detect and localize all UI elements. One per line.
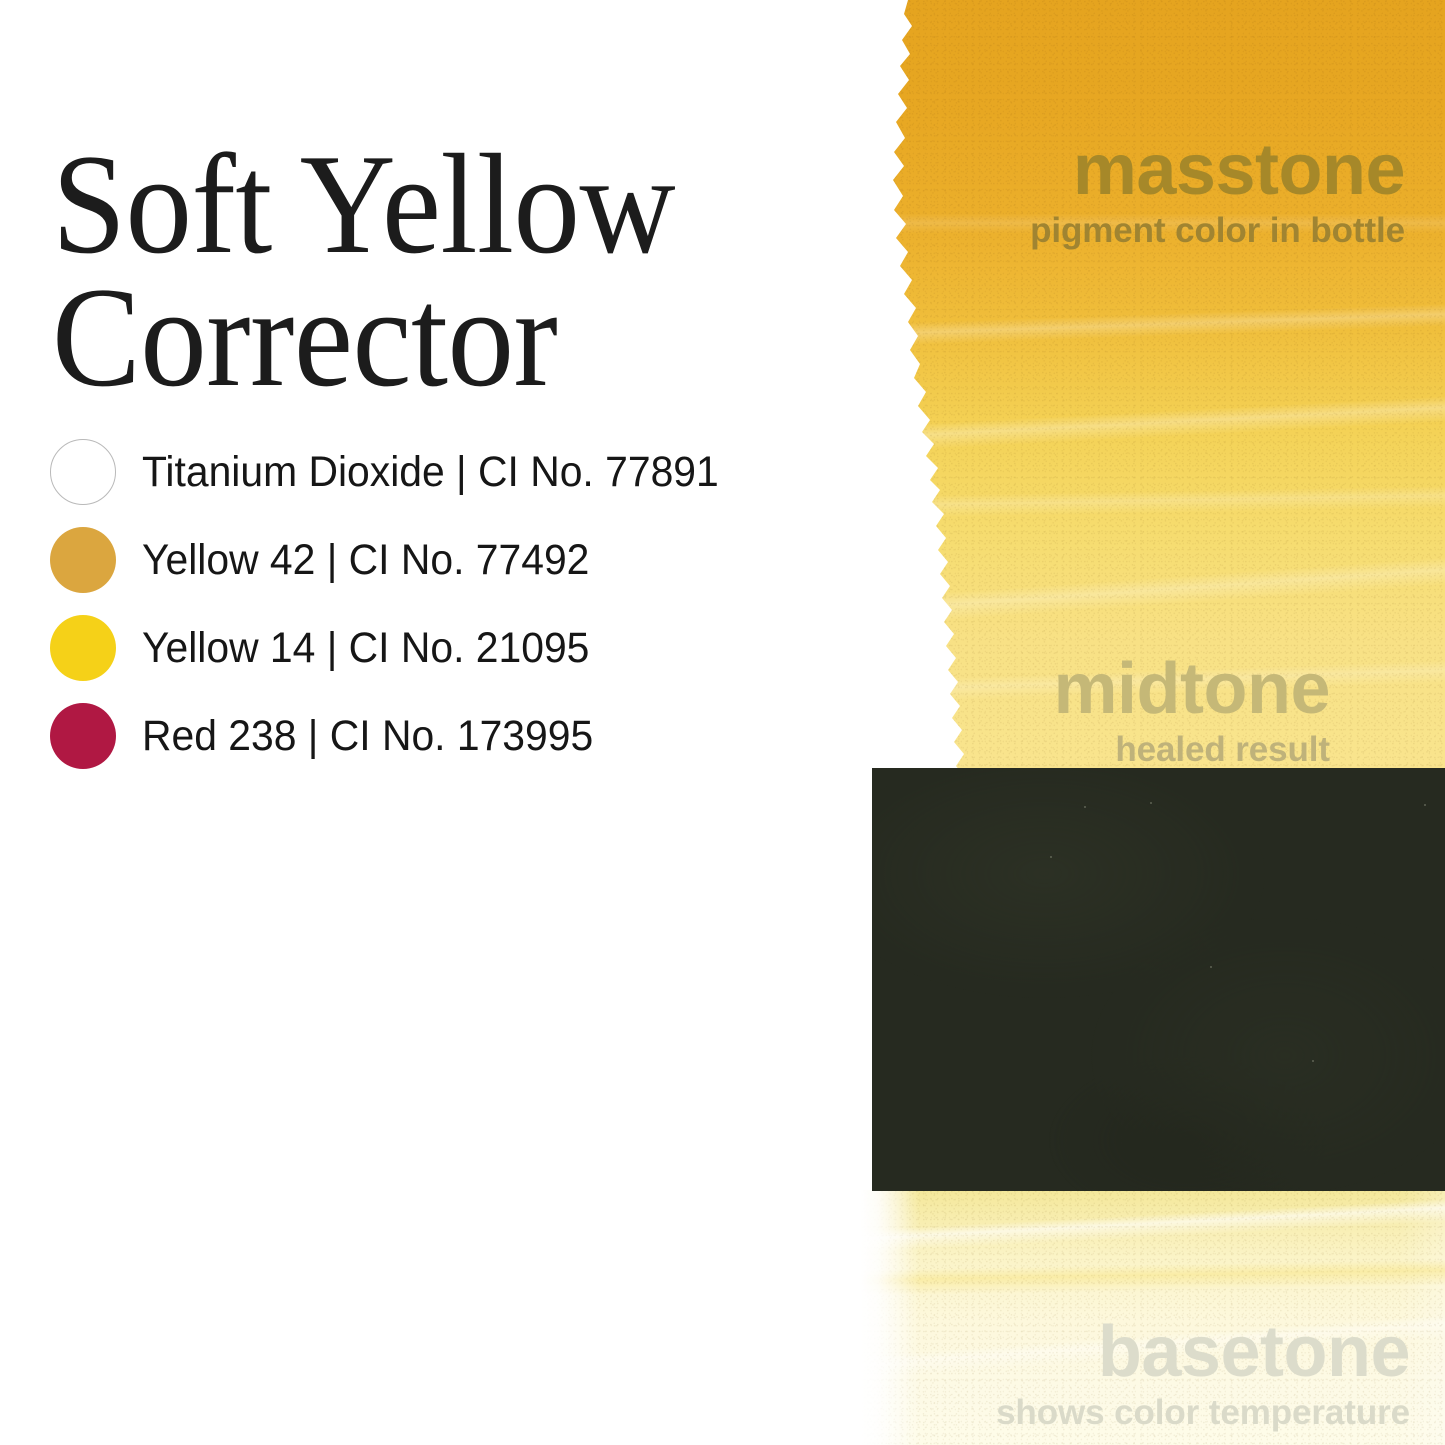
pigment-row: Red 238 | CI No. 173995 [50, 692, 870, 780]
product-title: Soft Yellow Corrector [52, 138, 796, 404]
yellow-42-swatch [50, 527, 116, 593]
dark-block-speck [1210, 966, 1212, 968]
dark-block-speck [1312, 1060, 1314, 1062]
basetone-wash [860, 1190, 1445, 1445]
swatch-stack [860, 0, 1445, 1445]
torn-paper-edge [860, 0, 1020, 790]
dark-block-speck [1084, 806, 1086, 808]
pigment-row: Titanium Dioxide | CI No. 77891 [50, 428, 870, 516]
pigment-label: Red 238 | CI No. 173995 [142, 715, 593, 758]
info-panel: Soft Yellow Corrector Titanium Dioxide |… [0, 0, 880, 1445]
pigment-swatch-card: masstone pigment color in bottle midtone… [0, 0, 1445, 1445]
dark-block-mottle [872, 768, 1445, 1191]
basetone-brush-streaks [860, 1190, 1445, 1445]
pigment-row: Yellow 14 | CI No. 21095 [50, 604, 870, 692]
yellow-14-swatch [50, 615, 116, 681]
dark-block-speck [1050, 856, 1052, 858]
red-238-swatch [50, 703, 116, 769]
dark-block-speck [1150, 802, 1152, 804]
masstone-midtone-wash [860, 0, 1445, 790]
titanium-dioxide-swatch [50, 439, 116, 505]
dark-block-speck [1424, 804, 1426, 806]
dark-swatch-block [872, 768, 1445, 1191]
pigment-row: Yellow 42 | CI No. 77492 [50, 516, 870, 604]
pigment-label: Yellow 14 | CI No. 21095 [142, 627, 589, 670]
pigment-ingredient-list: Titanium Dioxide | CI No. 77891 Yellow 4… [50, 428, 870, 780]
pigment-label: Titanium Dioxide | CI No. 77891 [142, 451, 719, 494]
pigment-label: Yellow 42 | CI No. 77492 [142, 539, 589, 582]
